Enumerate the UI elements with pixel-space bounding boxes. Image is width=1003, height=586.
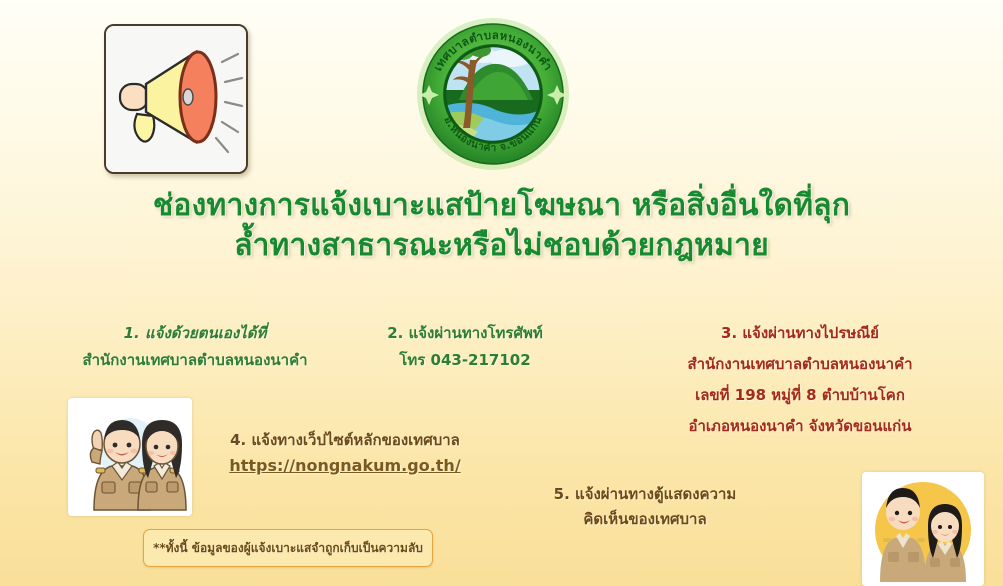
officials-cartoon-right (862, 472, 984, 586)
municipal-seal: เทศบาลตำบลหนองนาคำ อ.หนองนาคำ จ.ขอนแก่น (414, 14, 572, 176)
channel-item-2: 2. แจ้งผ่านทางโทรศัพท์ โทร 043-217102 (340, 320, 590, 374)
officials-pair-circle-icon (862, 472, 984, 586)
megaphone-image (104, 24, 248, 174)
page-title: ช่องทางการแจ้งเบาะแสป้ายโฆษณา หรือสิ่งอื… (0, 186, 1003, 266)
channel-item-4: 4. แจ้งทางเว็ปไซต์หลักของเทศบาล https://… (180, 428, 510, 478)
channel-2-heading: 2. แจ้งผ่านทางโทรศัพท์ (340, 320, 590, 347)
channel-3-heading: 3. แจ้งผ่านทางไปรษณีย์ (600, 318, 1000, 349)
officials-cartoon-left (68, 398, 192, 516)
headline-line-2: ล้ำทางสาธารณะหรือไม่ชอบด้วยกฎหมาย (0, 226, 1003, 266)
channel-item-5: 5. แจ้งผ่านทางตู้แสดงความ คิดเห็นของเทศบ… (500, 482, 790, 532)
channel-4-heading: 4. แจ้งทางเว็ปไซต์หลักของเทศบาล (180, 428, 510, 453)
municipality-website-link[interactable]: https://nongnakum.go.th/ (180, 453, 510, 478)
officials-pair-icon (68, 398, 192, 516)
channel-item-1: 1. แจ้งด้วยตนเองได้ที่ สำนักงานเทศบาลตำบ… (40, 320, 350, 374)
poster-canvas: เทศบาลตำบลหนองนาคำ อ.หนองนาคำ จ.ขอนแก่น … (0, 0, 1003, 586)
channel-1-heading: 1. แจ้งด้วยตนเองได้ที่ (40, 320, 350, 347)
channel-item-3: 3. แจ้งผ่านทางไปรษณีย์ สำนักงานเทศบาลตำบ… (600, 318, 1000, 442)
channel-3-district: อำเภอหนองนาคำ จังหวัดขอนแก่น (600, 411, 1000, 442)
channel-2-phone: โทร 043-217102 (340, 347, 590, 374)
channel-3-address: เลขที่ 198 หมู่ที่ 8 ตำบบ้านโคก (600, 380, 1000, 411)
confidentiality-note: **ทั้งนี้ ข้อมูลของผู้แจ้งเบาะแสจำถูกเก็… (143, 529, 433, 567)
seal-emblem-icon: เทศบาลตำบลหนองนาคำ อ.หนองนาคำ จ.ขอนแก่น (414, 14, 572, 176)
channel-3-office: สำนักงานเทศบาลตำบลหนองนาคำ (600, 349, 1000, 380)
headline-line-1: ช่องทางการแจ้งเบาะแสป้ายโฆษณา หรือสิ่งอื… (0, 186, 1003, 226)
channel-5-heading: 5. แจ้งผ่านทางตู้แสดงความ (500, 482, 790, 507)
channel-1-detail: สำนักงานเทศบาลตำบลหนองนาคำ (40, 347, 350, 374)
megaphone-icon (106, 26, 246, 172)
channel-5-detail: คิดเห็นของเทศบาล (500, 507, 790, 532)
confidentiality-note-text: **ทั้งนี้ ข้อมูลของผู้แจ้งเบาะแสจำถูกเก็… (153, 539, 423, 558)
